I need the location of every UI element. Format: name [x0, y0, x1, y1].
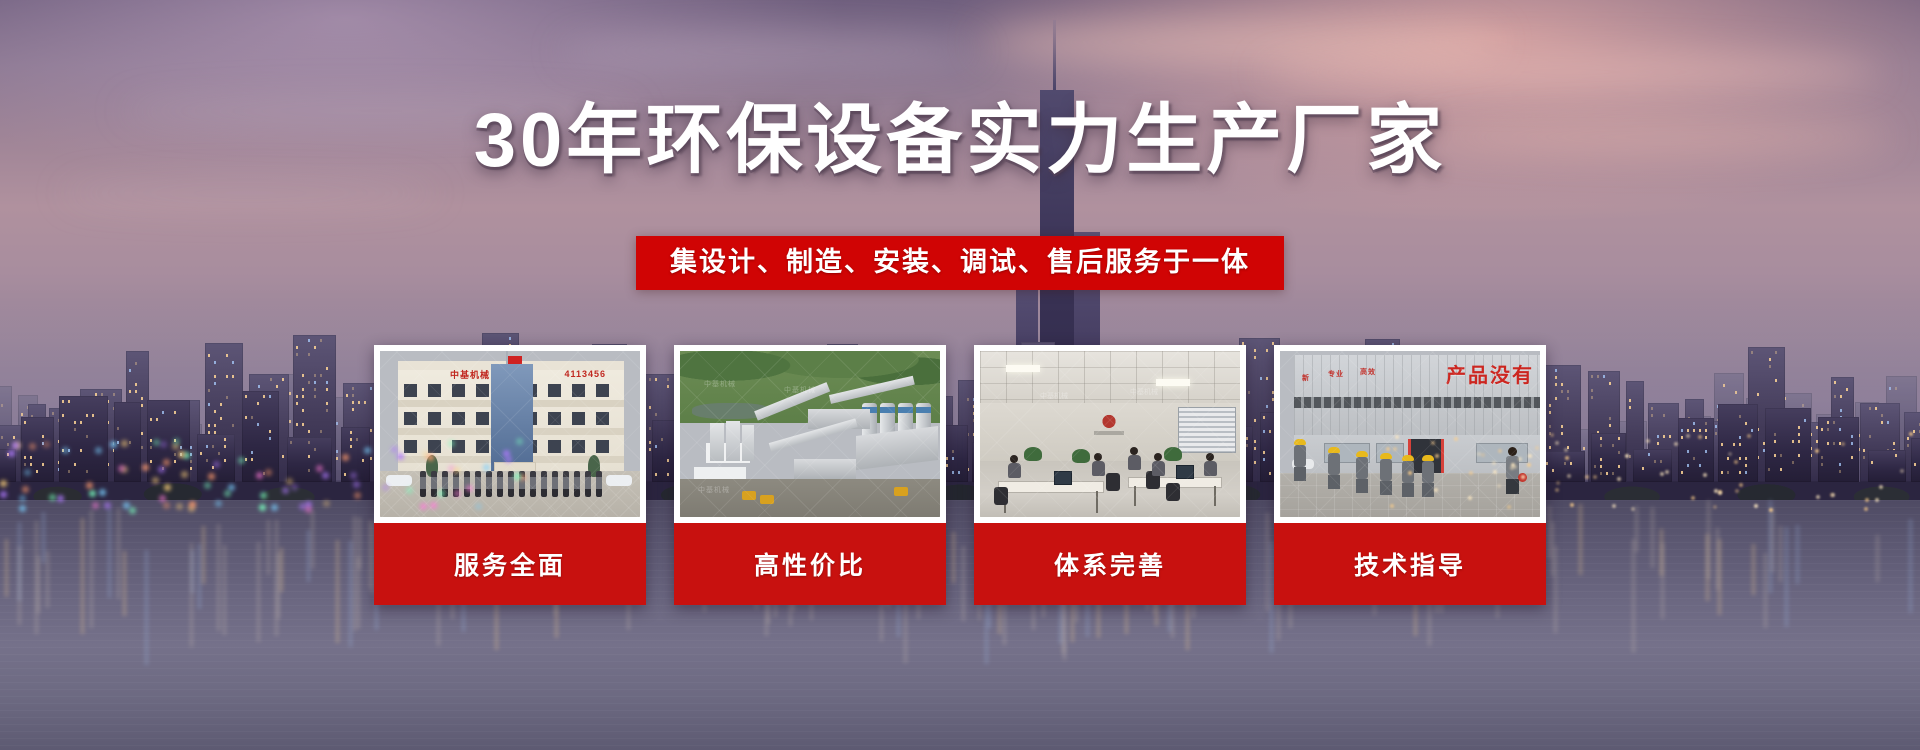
park-light [224, 490, 231, 497]
park-light [99, 489, 106, 496]
shore-light [1435, 454, 1439, 458]
shore-light [1567, 474, 1571, 478]
ceiling [980, 351, 1240, 403]
worker [1402, 455, 1414, 497]
loader-vehicle [894, 487, 908, 496]
shore-light [1735, 489, 1739, 493]
park-light [208, 473, 215, 480]
park-light [152, 477, 159, 484]
shore-light [1739, 483, 1743, 487]
park-light [322, 472, 329, 479]
card-caption-text: 高性价比 [754, 546, 866, 582]
subtitle-text: 集设计、制造、安装、调试、售后服务于一体 [670, 245, 1250, 279]
shore-light [1713, 505, 1717, 509]
shore-light [1386, 447, 1390, 451]
shore-light [1513, 465, 1517, 469]
park-light [316, 465, 323, 472]
person-body [1092, 461, 1105, 476]
worker [1422, 455, 1434, 497]
park-light [142, 464, 149, 471]
shore-light [1674, 442, 1678, 446]
shore-light [1555, 488, 1559, 492]
worker-torso [1422, 461, 1434, 483]
worker-legs [1402, 483, 1414, 497]
shore-light [1691, 496, 1695, 500]
worker [1328, 447, 1340, 489]
desk-leg [1214, 486, 1216, 506]
park-light [8, 450, 15, 457]
person-head [1094, 453, 1102, 461]
shore-light [1395, 435, 1399, 439]
staff-person [552, 471, 558, 497]
potted-plant [1072, 449, 1090, 463]
worker-legs [1356, 479, 1368, 493]
office-chair [1106, 473, 1120, 491]
staff-person [563, 471, 569, 497]
park-light [110, 441, 117, 448]
park-light [24, 469, 31, 476]
shore-light [1497, 484, 1501, 488]
shore-light [1527, 463, 1531, 467]
staff-person [431, 471, 437, 497]
park-light [57, 495, 64, 502]
person-head [1010, 455, 1018, 463]
park-light [62, 447, 69, 454]
shore-light [1754, 504, 1758, 508]
plant-building [794, 459, 856, 479]
park-light [453, 467, 460, 474]
shore-light [1734, 460, 1738, 464]
glass-atrium [491, 364, 533, 474]
company-phone-text: 4113456 [564, 369, 606, 379]
park-light [391, 446, 398, 453]
office-chair [1166, 483, 1180, 501]
park-light [406, 487, 413, 494]
person-head [1206, 453, 1214, 461]
park-light [454, 490, 461, 497]
staff-person [475, 471, 481, 497]
card-caption: 体系完善 [974, 523, 1246, 605]
person-body [1204, 461, 1217, 476]
shore-light [1408, 471, 1412, 475]
parked-car [606, 475, 632, 486]
park-light [438, 490, 445, 497]
park-light [427, 454, 434, 461]
shore-light [1556, 481, 1560, 485]
park-light [420, 503, 427, 510]
shore-light [1390, 504, 1394, 508]
factory-banner-text: 产品没有 [1446, 359, 1534, 388]
staff-person [464, 471, 470, 497]
ceiling-light [1006, 365, 1040, 372]
park-light [19, 505, 26, 512]
shore-light [1816, 495, 1820, 499]
worker [1294, 439, 1306, 481]
park-light [164, 484, 171, 491]
park-light [12, 442, 19, 449]
card-caption-text: 服务全面 [454, 546, 566, 582]
photo-watermark: 中基机械 [784, 385, 816, 395]
park-light [49, 494, 56, 501]
feature-card[interactable]: 中基机械 中基机械 中基机械 高性价比 [674, 345, 946, 605]
shore-light [1570, 503, 1574, 507]
shore-light [1841, 442, 1845, 446]
photo-watermark: 中基机械 [1040, 391, 1068, 401]
person-head [1154, 453, 1162, 461]
park-light [516, 438, 523, 445]
park-light [104, 502, 111, 509]
park-light [448, 440, 455, 447]
shore-light [1481, 453, 1485, 457]
shore-light [1431, 441, 1435, 445]
park-light [95, 447, 102, 454]
shore-light [1555, 441, 1559, 445]
card-caption-text: 体系完善 [1054, 546, 1166, 582]
worker-torso [1380, 459, 1392, 481]
shore-light [1565, 456, 1569, 460]
park-light [213, 461, 220, 468]
staff-person [486, 471, 492, 497]
factory-slogan: 新 [1302, 373, 1310, 383]
page-title: 30年环保设备实力生产厂家 [0, 98, 1920, 184]
park-light [178, 451, 185, 458]
shore-light [1492, 461, 1496, 465]
park-light [92, 502, 99, 509]
shore-light [1469, 471, 1473, 475]
shore-light [1625, 454, 1629, 458]
shore-light [1564, 448, 1568, 452]
shore-light [1585, 475, 1589, 479]
shore-light [1909, 432, 1913, 436]
card-photo-factory-workers: 产品没有 新 专业 高效 [1280, 351, 1540, 517]
shore-light [1631, 507, 1635, 511]
card-caption-text: 技术指导 [1354, 546, 1466, 582]
park-light [29, 443, 36, 450]
worker-legs [1328, 475, 1340, 489]
desk-leg [1134, 486, 1136, 506]
park-light [118, 465, 125, 472]
shore-light [1665, 470, 1669, 474]
card-caption: 高性价比 [674, 523, 946, 605]
subtitle-badge: 集设计、制造、安装、调试、售后服务于一体 [636, 236, 1284, 290]
park-light [483, 464, 490, 471]
park-light [89, 490, 96, 497]
photo-watermark: 中基机械 [1130, 387, 1158, 397]
shore-light [1535, 446, 1539, 450]
park-light [503, 450, 510, 457]
shore-light [1900, 469, 1904, 473]
worker-legs [1422, 483, 1434, 497]
park-light [181, 471, 188, 478]
potted-plant [1024, 447, 1042, 461]
worker-legs [1294, 467, 1306, 481]
card-photo-plant-aerial: 中基机械 中基机械 中基机械 [680, 351, 940, 517]
shore-light [1617, 477, 1621, 481]
factory-slogan: 高效 [1360, 367, 1376, 377]
park-light [19, 495, 26, 502]
worker-torso [1356, 457, 1368, 479]
park-light [259, 504, 266, 511]
wall-logo [1092, 411, 1126, 437]
park-light [159, 495, 166, 502]
loader-vehicle [742, 491, 756, 500]
park-light [129, 507, 136, 514]
park-light [215, 500, 222, 507]
park-light [86, 482, 93, 489]
park-light [382, 484, 389, 491]
shore-light [1468, 496, 1472, 500]
person-body [1152, 461, 1165, 476]
worker-torso [1328, 453, 1340, 475]
ceiling-light [1156, 379, 1190, 386]
shore-light [1703, 473, 1707, 477]
park-light [189, 501, 196, 508]
park-light [286, 478, 293, 485]
shore-light [1518, 457, 1522, 461]
person-head [1130, 447, 1138, 455]
shore-light [1646, 439, 1650, 443]
photo-watermark: 中基机械 [704, 379, 736, 389]
supervisor [1506, 447, 1519, 494]
park-light [323, 500, 330, 507]
shore-light [1698, 435, 1702, 439]
park-light [153, 439, 160, 446]
park-light [342, 454, 349, 461]
park-light [350, 472, 357, 479]
shore-light [1718, 491, 1722, 495]
park-light [176, 503, 183, 510]
shore-light [1454, 437, 1458, 441]
shore-light [1593, 475, 1597, 479]
park-light [158, 466, 165, 473]
park-light [204, 482, 211, 489]
photo-watermark: 中基机械 [698, 485, 730, 495]
park-light [238, 457, 245, 464]
factory-facade: 产品没有 新 专业 高效 [1294, 355, 1540, 435]
person-body [1008, 463, 1021, 478]
worker-legs [1380, 481, 1392, 495]
feature-card[interactable]: 中基机械 中基机械 体系完善 [974, 345, 1246, 605]
person-body [1128, 455, 1141, 470]
park-light [163, 459, 170, 466]
shore-light [1434, 488, 1438, 492]
park-light [0, 491, 7, 498]
feature-card-list: 中基机械 4113456 [374, 345, 1546, 605]
shore-light [1714, 489, 1718, 493]
staff-person [420, 471, 426, 497]
factory-slogan: 专业 [1328, 369, 1344, 379]
card-caption: 服务全面 [374, 523, 646, 605]
shore-light [1528, 454, 1532, 458]
card-photo-office-interior: 中基机械 中基机械 [980, 351, 1240, 517]
desk-leg [1096, 491, 1098, 513]
park-light [160, 441, 167, 448]
shore-light [1769, 508, 1773, 512]
shore-light [1507, 505, 1511, 509]
shore-light [1550, 433, 1554, 437]
card-caption: 技术指导 [1274, 523, 1546, 605]
park-light [364, 447, 371, 454]
park-light [466, 485, 473, 492]
feature-card[interactable]: 产品没有 新 专业 高效 [1274, 345, 1546, 605]
conveyor-tower [726, 421, 740, 461]
park-light [354, 492, 361, 499]
shore-light [1660, 472, 1664, 476]
park-light [475, 503, 482, 510]
park-light [260, 492, 267, 499]
worker-torso [1294, 445, 1306, 467]
park-light [291, 484, 298, 491]
shore-light [1747, 434, 1751, 438]
shore-light [1612, 504, 1616, 508]
conveyor-tower [742, 425, 754, 461]
shore-light [1879, 485, 1883, 489]
shore-light [1865, 498, 1869, 502]
shore-light [1728, 452, 1732, 456]
window-blinds [1178, 407, 1236, 453]
desk [998, 481, 1104, 493]
office-chair [994, 487, 1008, 505]
potted-plant [1164, 447, 1182, 461]
shore-light [1831, 493, 1835, 497]
park-light [123, 502, 130, 509]
monitor [1176, 465, 1194, 479]
shore-light [1686, 434, 1690, 438]
park-light [256, 472, 263, 479]
promo-banner: 30年环保设备实力生产厂家 集设计、制造、安装、调试、售后服务于一体 中基机械 … [0, 0, 1920, 750]
staff-person [585, 471, 591, 497]
shore-light [1864, 507, 1868, 511]
conveyor-tower [710, 423, 724, 461]
park-light [173, 438, 180, 445]
shore-light [1521, 475, 1525, 479]
shore-light [1393, 447, 1397, 451]
clerestory-windows [1294, 397, 1540, 408]
feature-card[interactable]: 中基机械 4113456 [374, 345, 646, 605]
park-light [430, 502, 437, 509]
card-photo-office-building: 中基机械 4113456 [380, 351, 640, 517]
staff-person [596, 471, 602, 497]
park-light [163, 502, 170, 509]
park-light [22, 486, 29, 493]
shore-light [1875, 498, 1879, 502]
shore-light [1493, 470, 1497, 474]
park-light [282, 487, 289, 494]
park-light [43, 441, 50, 448]
park-light [305, 506, 312, 513]
monitor [1054, 471, 1072, 485]
park-light [353, 481, 360, 488]
banner-content: 30年环保设备实力生产厂家 集设计、制造、安装、调试、售后服务于一体 中基机械 … [0, 0, 1920, 750]
staff-person [530, 471, 536, 497]
park-light [397, 453, 404, 460]
worker [1356, 451, 1368, 493]
company-sign-text: 中基机械 [450, 368, 490, 381]
shore-light [1498, 449, 1502, 453]
staff-person [497, 471, 503, 497]
parked-car [386, 475, 412, 486]
park-light [271, 504, 278, 511]
park-light [0, 480, 7, 487]
staff-person [541, 471, 547, 497]
worker [1380, 453, 1392, 495]
park-light [265, 469, 272, 476]
staff-person [574, 471, 580, 497]
loader-vehicle [760, 495, 774, 504]
park-light [121, 440, 128, 447]
park-light [505, 456, 512, 463]
park-light [514, 473, 521, 480]
shore-light [1815, 449, 1819, 453]
